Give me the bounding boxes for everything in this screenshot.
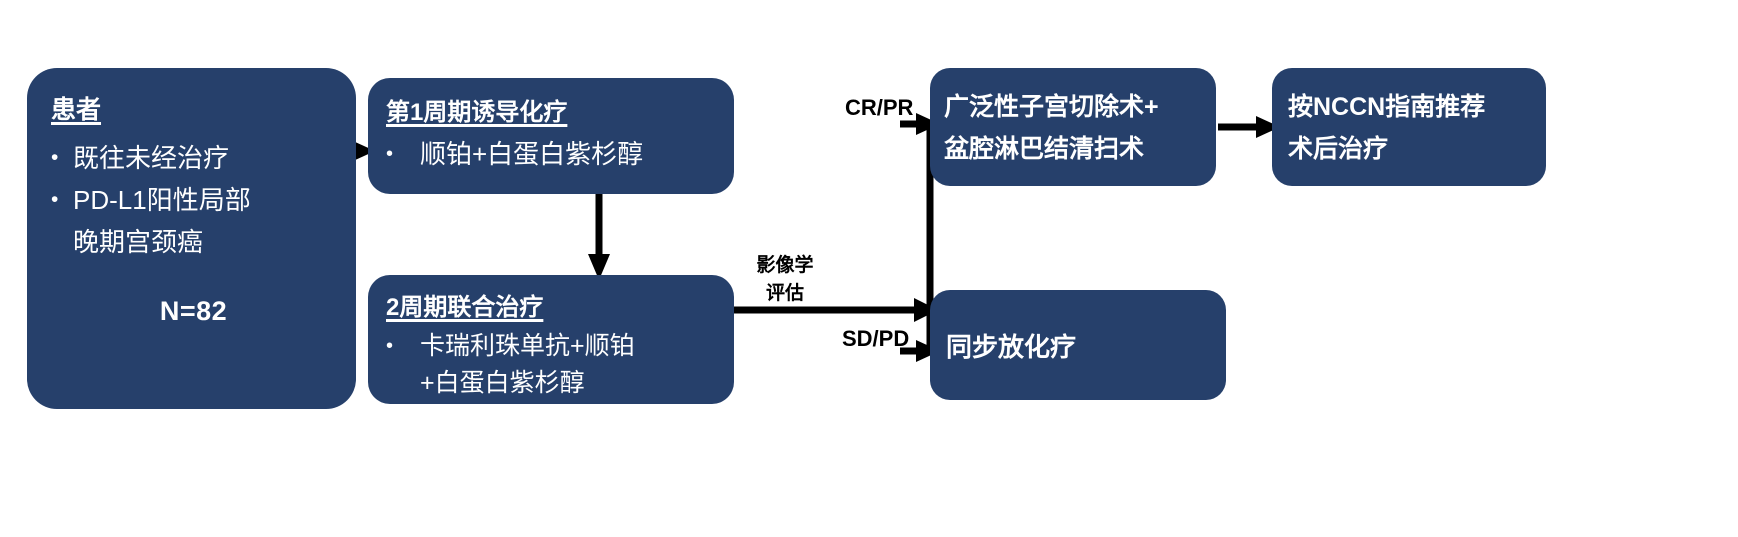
edge-label-sd-pd: SD/PD: [842, 326, 909, 352]
arrow-induction-to-combination: [585, 190, 613, 280]
arrow-surgery-to-nccn: [1218, 115, 1280, 139]
node-combination-regimen-line1: 卡瑞利珠单抗+顺铂: [420, 328, 635, 365]
node-chemoradiation-line1: 同步放化疗: [946, 327, 1076, 364]
list-item: • 既往未经治疗: [51, 138, 336, 178]
flowchart-canvas: 影像学 评估 CR/PR SD/PD 患者 • 既往未经治疗 • PD-L1阳性…: [0, 0, 1738, 537]
node-induction-title: 第1周期诱导化疗: [386, 92, 722, 127]
list-item: • 卡瑞利珠单抗+顺铂: [386, 328, 722, 365]
list-item: • 顺铂+白蛋白紫杉醇: [386, 135, 722, 173]
edge-label-cr-pr: CR/PR: [845, 95, 913, 121]
edge-label-imaging-line2: 评估: [746, 280, 824, 308]
edge-label-imaging-assessment: 影像学 评估: [746, 252, 824, 308]
edge-label-imaging-line1: 影像学: [746, 252, 824, 280]
bullet-glyph: •: [386, 328, 420, 365]
node-concurrent-chemoradiotherapy: 同步放化疗: [930, 290, 1226, 400]
node-radical-surgery: 广泛性子宫切除术+ 盆腔淋巴结清扫术: [930, 68, 1216, 186]
node-nccn-postop-therapy: 按NCCN指南推荐 术后治疗: [1272, 68, 1546, 186]
node-combination-therapy: 2周期联合治疗 • 卡瑞利珠单抗+顺铂 +白蛋白紫杉醇: [368, 275, 734, 404]
list-item: • PD-L1阳性局部: [51, 180, 336, 220]
node-nccn-line1: 按NCCN指南推荐: [1288, 86, 1536, 128]
node-patients-criteria-list: • 既往未经治疗 • PD-L1阳性局部 晚期宫颈癌: [51, 138, 336, 262]
bullet-glyph: •: [51, 138, 73, 178]
node-nccn-line2: 术后治疗: [1288, 128, 1536, 170]
node-patients-criterion-2-cont: 晚期宫颈癌: [73, 222, 336, 262]
node-surgery-line1: 广泛性子宫切除术+: [944, 86, 1206, 128]
node-patients-criterion-2: PD-L1阳性局部: [73, 180, 251, 220]
node-induction-chemotherapy: 第1周期诱导化疗 • 顺铂+白蛋白紫杉醇: [368, 78, 734, 194]
node-combination-title: 2周期联合治疗: [386, 287, 722, 322]
node-induction-regimen: 顺铂+白蛋白紫杉醇: [420, 135, 643, 173]
node-patients-enrollment: N=82: [51, 296, 336, 327]
bullet-glyph: •: [51, 180, 73, 220]
node-patients-criterion-1: 既往未经治疗: [73, 138, 229, 178]
node-patients: 患者 • 既往未经治疗 • PD-L1阳性局部 晚期宫颈癌 N=82: [27, 68, 356, 409]
bullet-glyph: •: [386, 135, 420, 173]
node-combination-regimen-line2: +白蛋白紫杉醇: [420, 365, 722, 402]
node-patients-title: 患者: [51, 90, 336, 126]
node-surgery-line2: 盆腔淋巴结清扫术: [944, 128, 1206, 170]
